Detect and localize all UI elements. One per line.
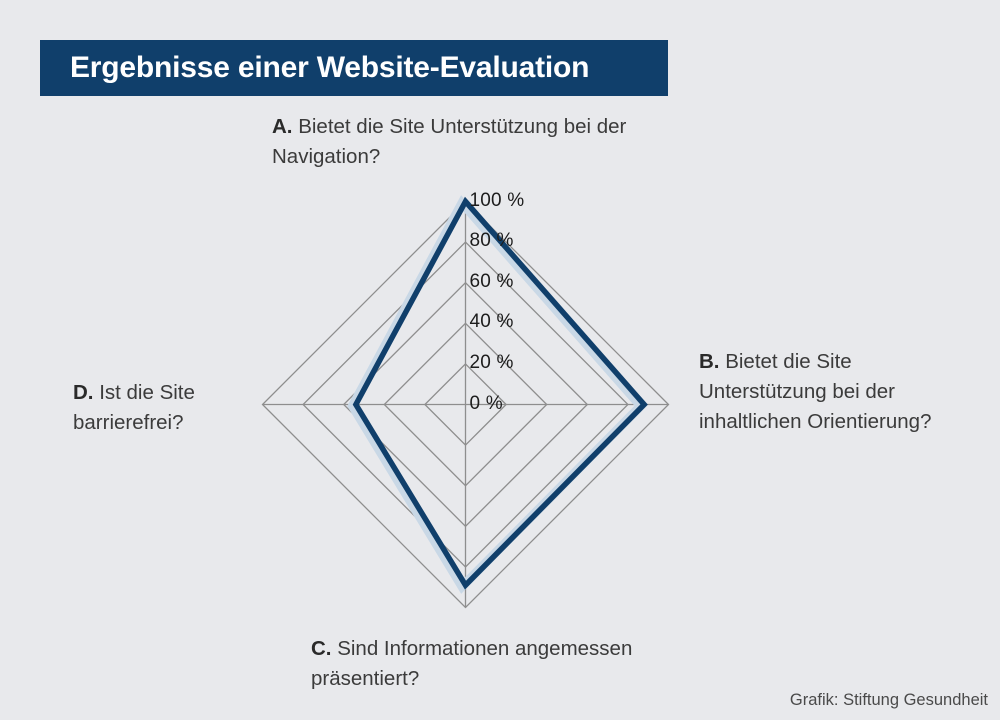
axis-key-a: A. <box>272 115 293 138</box>
axis-key-d: D. <box>73 381 94 404</box>
grid-axes <box>263 202 669 608</box>
radar-chart: 0 %20 %40 %60 %80 %100 % A. Bietet die S… <box>0 0 1000 720</box>
axis-text-a: Bietet die Site Unterstützung bei der Na… <box>272 115 626 168</box>
axis-label-d: D. Ist die Site barrierefrei? <box>73 378 273 438</box>
tick-label-0: 0 % <box>470 393 503 415</box>
axis-label-a: A. Bietet die Site Unterstützung bei der… <box>272 112 672 172</box>
axis-label-b: B. Bietet die Site Unterstützung bei der… <box>699 347 949 437</box>
credit-line: Grafik: Stiftung Gesundheit <box>790 691 988 710</box>
tick-label-20: 20 % <box>470 352 514 374</box>
axis-text-b: Bietet die Site Unterstützung bei der in… <box>699 350 931 433</box>
axis-key-c: C. <box>311 637 332 660</box>
axis-label-c: C. Sind Informationen angemessen präsent… <box>311 634 711 694</box>
tick-label-40: 40 % <box>470 311 514 333</box>
infographic-page: Ergebnisse einer Website-Evaluation 0 %2… <box>0 0 1000 720</box>
tick-label-100: 100 % <box>470 190 525 212</box>
tick-label-60: 60 % <box>470 271 514 293</box>
axis-key-b: B. <box>699 350 720 373</box>
axis-text-c: Sind Informationen angemessen präsentier… <box>311 637 632 690</box>
tick-label-80: 80 % <box>470 230 514 252</box>
